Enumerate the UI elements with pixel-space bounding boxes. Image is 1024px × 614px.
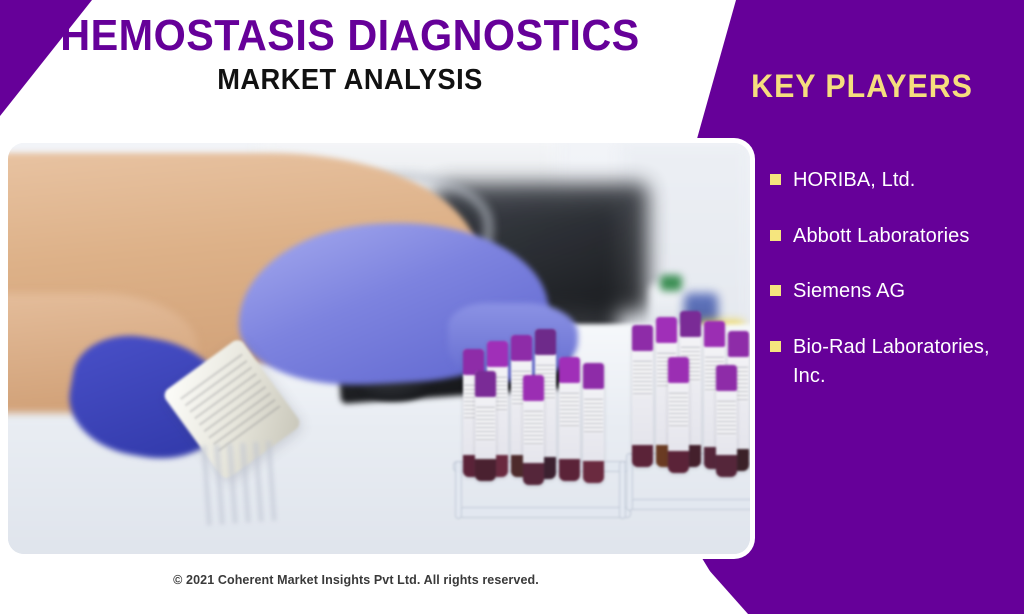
player-name: HORIBA, Ltd.	[793, 166, 915, 196]
square-bullet-icon	[770, 230, 781, 241]
page-subtitle: MARKET ANALYSIS	[21, 65, 679, 95]
square-bullet-icon	[770, 174, 781, 185]
infographic-canvas: HEMOSTASIS DIAGNOSTICS MARKET ANALYSIS	[0, 0, 1024, 614]
player-name: Abbott Laboratories	[793, 222, 969, 252]
laboratory-photo-card	[8, 143, 750, 554]
player-name: Bio-Rad Laboratories, Inc.	[793, 333, 1020, 392]
key-players-list: HORIBA, Ltd. Abbott Laboratories Siemens…	[770, 166, 1020, 418]
title-block: HEMOSTASIS DIAGNOSTICS MARKET ANALYSIS	[0, 14, 700, 95]
player-name: Siemens AG	[793, 277, 905, 307]
copyright-notice: © 2021 Coherent Market Insights Pvt Ltd.…	[0, 573, 712, 587]
list-item[interactable]: Siemens AG	[770, 277, 1020, 307]
laboratory-photo	[8, 143, 750, 554]
list-item[interactable]: HORIBA, Ltd.	[770, 166, 1020, 196]
square-bullet-icon	[770, 341, 781, 352]
background-bottle-cap	[660, 275, 682, 291]
page-title: HEMOSTASIS DIAGNOSTICS	[21, 14, 679, 59]
pipette-tips	[201, 440, 282, 525]
tube-rack-right	[626, 295, 750, 525]
list-item[interactable]: Abbott Laboratories	[770, 222, 1020, 252]
tube-rack-left	[453, 311, 638, 531]
list-item[interactable]: Bio-Rad Laboratories, Inc.	[770, 333, 1020, 392]
square-bullet-icon	[770, 285, 781, 296]
key-players-heading: KEY PLAYERS	[708, 68, 1016, 105]
